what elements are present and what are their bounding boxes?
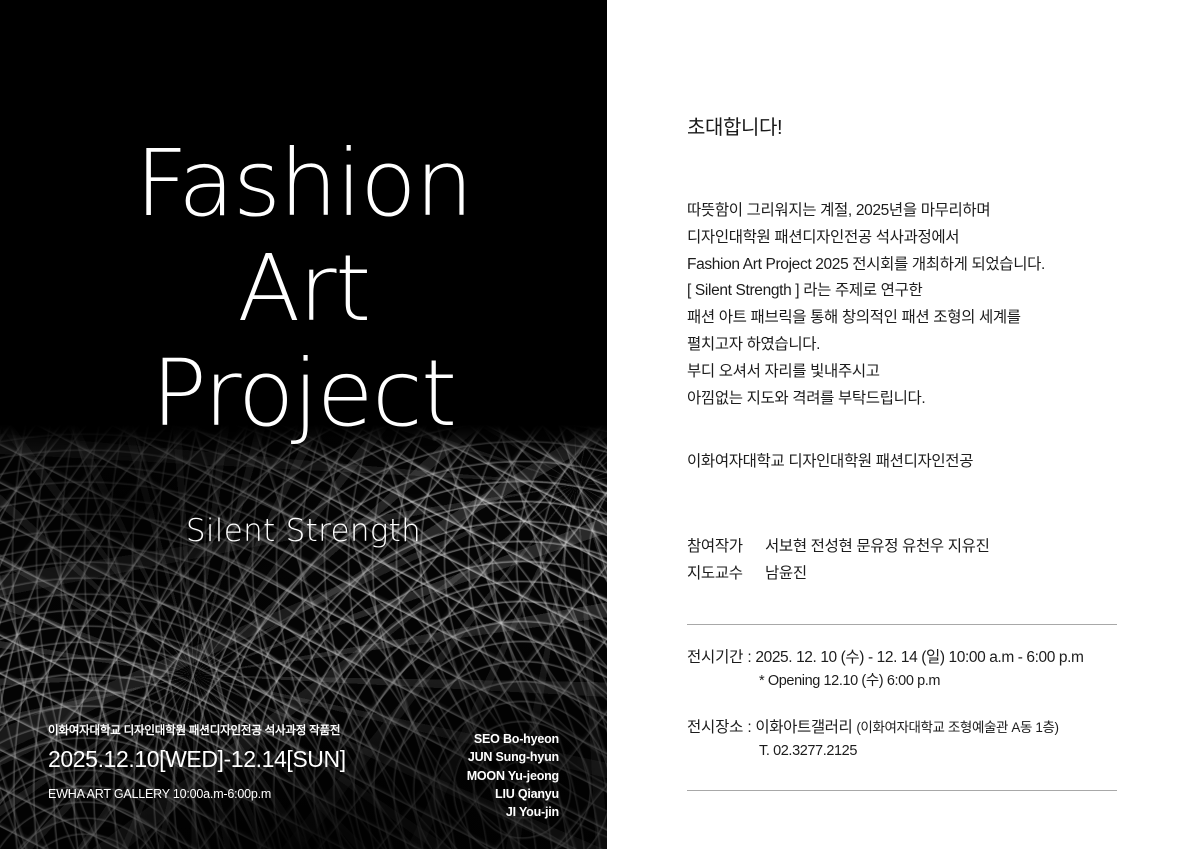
participating-artists-row: 참여작가서보현 전성현 문유정 유천우 지유진 — [687, 533, 1127, 561]
poster-artist-name: MOON Yu-jeong — [467, 767, 559, 785]
invitation-body-line: 패션 아트 패브릭을 통해 창의적인 패션 조형의 세계를 — [687, 305, 1127, 332]
poster-venue-line: EWHA ART GALLERY 10:00a.m-6:00p.m — [48, 787, 346, 801]
invitation-body-line: 아낌없는 지도와 격려를 부탁드립니다. — [687, 386, 1127, 413]
invitation-body-line: 디자인대학원 패션디자인전공 석사과정에서 — [687, 225, 1127, 252]
invitation-body: 따뜻함이 그리워지는 계절, 2025년을 마무리하며 디자인대학원 패션디자인… — [687, 140, 1127, 413]
invitation-body-line: Fashion Art Project 2025 전시회를 개최하게 되었습니다… — [687, 252, 1127, 279]
exhibition-period-label: 전시기간 : — [687, 649, 751, 666]
exhibition-period-line: 전시기간 : 2025. 12. 10 (수) - 12. 14 (일) 10:… — [687, 645, 1127, 670]
poster-title-line-1: Fashion — [0, 132, 607, 237]
invitation-people: 참여작가서보현 전성현 문유정 유천우 지유진 지도교수남윤진 — [687, 471, 1127, 588]
advisor-label: 지도교수 — [687, 560, 765, 588]
poster-artist-name: JI You-jin — [467, 803, 559, 821]
invitation-body-line: [ Silent Strength ] 라는 주제로 연구한 — [687, 278, 1127, 305]
opening-line: * Opening 12.10 (수) 6:00 p.m — [687, 670, 1127, 693]
invitation-content: 초대합니다! 따뜻함이 그리워지는 계절, 2025년을 마무리하며 디자인대학… — [687, 0, 1127, 791]
invitation-details: 전시기간 : 2025. 12. 10 (수) - 12. 14 (일) 10:… — [687, 625, 1127, 764]
advisor-value: 남윤진 — [765, 565, 807, 582]
exhibition-place-line: 전시장소 : 이화아트갤러리 (이화여자대학교 조형예술관 A동 1층) — [687, 715, 1127, 740]
invitation-body-line: 펼치고자 하였습니다. — [687, 332, 1127, 359]
poster-dates-line: 2025.12.10[WED]-12.14[SUN] — [48, 746, 346, 773]
poster-artist-name: SEO Bo-hyeon — [467, 730, 559, 748]
poster-subtitle: Silent Strength — [0, 513, 607, 549]
invitation-body-line: 부디 오셔서 자리를 빛내주시고 — [687, 359, 1127, 386]
details-bottom-divider — [687, 790, 1117, 791]
poster-department-line: 이화여자대학교 디자인대학원 패션디자인전공 석사과정 작품전 — [48, 722, 346, 738]
participating-artists-value: 서보현 전성현 문유정 유천우 지유진 — [765, 538, 989, 555]
exhibition-phone-line: T. 02.3277.2125 — [687, 740, 1127, 763]
exhibition-place-value: 이화아트갤러리 — [755, 719, 852, 736]
advisor-row: 지도교수남윤진 — [687, 560, 1127, 588]
participating-artists-label: 참여작가 — [687, 533, 765, 561]
poster-artist-name: JUN Sung-hyun — [467, 748, 559, 766]
poster-content: Fashion Art Project Silent Strength 이화여자… — [0, 0, 607, 849]
invitation-organization: 이화여자대학교 디자인대학원 패션디자인전공 — [687, 413, 1127, 471]
exhibition-period-block: 전시기간 : 2025. 12. 10 (수) - 12. 14 (일) 10:… — [687, 645, 1127, 694]
exhibition-poster: Fashion Art Project Silent Strength 이화여자… — [0, 0, 607, 849]
exhibition-period-value: 2025. 12. 10 (수) - 12. 14 (일) 10:00 a.m … — [755, 649, 1083, 666]
poster-title-line-3: Project — [0, 342, 607, 447]
poster-title: Fashion Art Project — [0, 132, 607, 447]
exhibition-place-detail: (이화여자대학교 조형예술관 A동 1층) — [856, 720, 1058, 735]
invitation-body-line: 따뜻함이 그리워지는 계절, 2025년을 마무리하며 — [687, 198, 1127, 225]
invitation-panel: 초대합니다! 따뜻함이 그리워지는 계절, 2025년을 마무리하며 디자인대학… — [607, 0, 1200, 849]
poster-artist-list: SEO Bo-hyeon JUN Sung-hyun MOON Yu-jeong… — [467, 730, 559, 821]
exhibition-place-block: 전시장소 : 이화아트갤러리 (이화여자대학교 조형예술관 A동 1층) T. … — [687, 715, 1127, 764]
invitation-heading: 초대합니다! — [687, 0, 1127, 140]
exhibition-place-label: 전시장소 : — [687, 719, 751, 736]
poster-footer-left: 이화여자대학교 디자인대학원 패션디자인전공 석사과정 작품전 2025.12.… — [48, 722, 346, 801]
poster-artist-name: LIU Qianyu — [467, 785, 559, 803]
poster-title-line-2: Art — [0, 237, 607, 342]
